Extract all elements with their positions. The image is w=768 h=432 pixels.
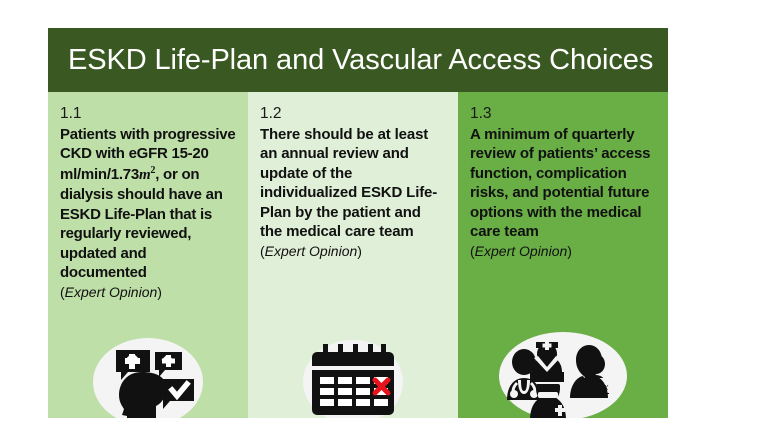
- pharmacy-rx-badge: Rx: [594, 378, 612, 393]
- recommendation-columns: 1.1 Patients with progressive CKD with e…: [48, 92, 668, 418]
- recommendation-text: A minimum of quarterly review of patient…: [470, 125, 656, 242]
- doctor-figure: [507, 349, 541, 400]
- icon-container-2: [248, 332, 458, 418]
- recommendation-card-1-1: 1.1 Patients with progressive CKD with e…: [48, 92, 248, 418]
- icon-container-1: [48, 332, 248, 418]
- recommendation-attribution: (Expert Opinion): [260, 243, 446, 259]
- recommendation-attribution: (Expert Opinion): [60, 284, 236, 300]
- calendar-icon: [297, 332, 409, 418]
- recommendation-attribution: (Expert Opinion): [470, 243, 656, 259]
- attribution-close-paren: ): [567, 243, 572, 259]
- surgeon-figure: [530, 384, 566, 418]
- recommendation-text: There should be at least an annual revie…: [260, 125, 446, 242]
- nurse-cap-cross: [543, 341, 552, 350]
- math-variable-m: m: [139, 167, 150, 183]
- recommendation-number: 1.1: [60, 104, 236, 124]
- patient-figure: [570, 345, 608, 398]
- recommendation-card-1-2: 1.2 There should be at least an annual r…: [248, 92, 458, 418]
- attribution-close-paren: ): [357, 243, 362, 259]
- calendar-marked-date: [375, 380, 388, 393]
- attribution-label: Expert Opinion: [475, 243, 568, 259]
- head-thought-bubbles-icon: [92, 332, 204, 418]
- slide-header: ESKD Life-Plan and Vascular Access Choic…: [48, 28, 668, 92]
- recommendation-text-suffix: , or on dialysis should have an ESKD Lif…: [60, 166, 223, 282]
- recommendation-number: 1.2: [260, 104, 446, 124]
- attribution-label: Expert Opinion: [65, 284, 158, 300]
- medical-care-team-icon: Rx: [488, 326, 638, 418]
- page-title: ESKD Life-Plan and Vascular Access Choic…: [68, 46, 653, 75]
- recommendation-number: 1.3: [470, 104, 656, 124]
- attribution-label: Expert Opinion: [265, 243, 358, 259]
- stethoscope-icon: [510, 380, 538, 398]
- surgical-mask: [538, 392, 558, 398]
- recommendation-card-1-3: 1.3 A minimum of quarterly review of pat…: [458, 92, 668, 418]
- slide: ESKD Life-Plan and Vascular Access Choic…: [48, 28, 668, 418]
- pharmacist-figure: [583, 354, 609, 394]
- nurse-figure: [530, 342, 564, 382]
- icon-container-3: Rx: [458, 326, 668, 418]
- surgeon-cross-badge: [555, 405, 565, 416]
- recommendation-text: Patients with progressive CKD with eGFR …: [60, 125, 236, 283]
- attribution-close-paren: ): [157, 284, 162, 300]
- svg-text:Rx: Rx: [597, 382, 609, 393]
